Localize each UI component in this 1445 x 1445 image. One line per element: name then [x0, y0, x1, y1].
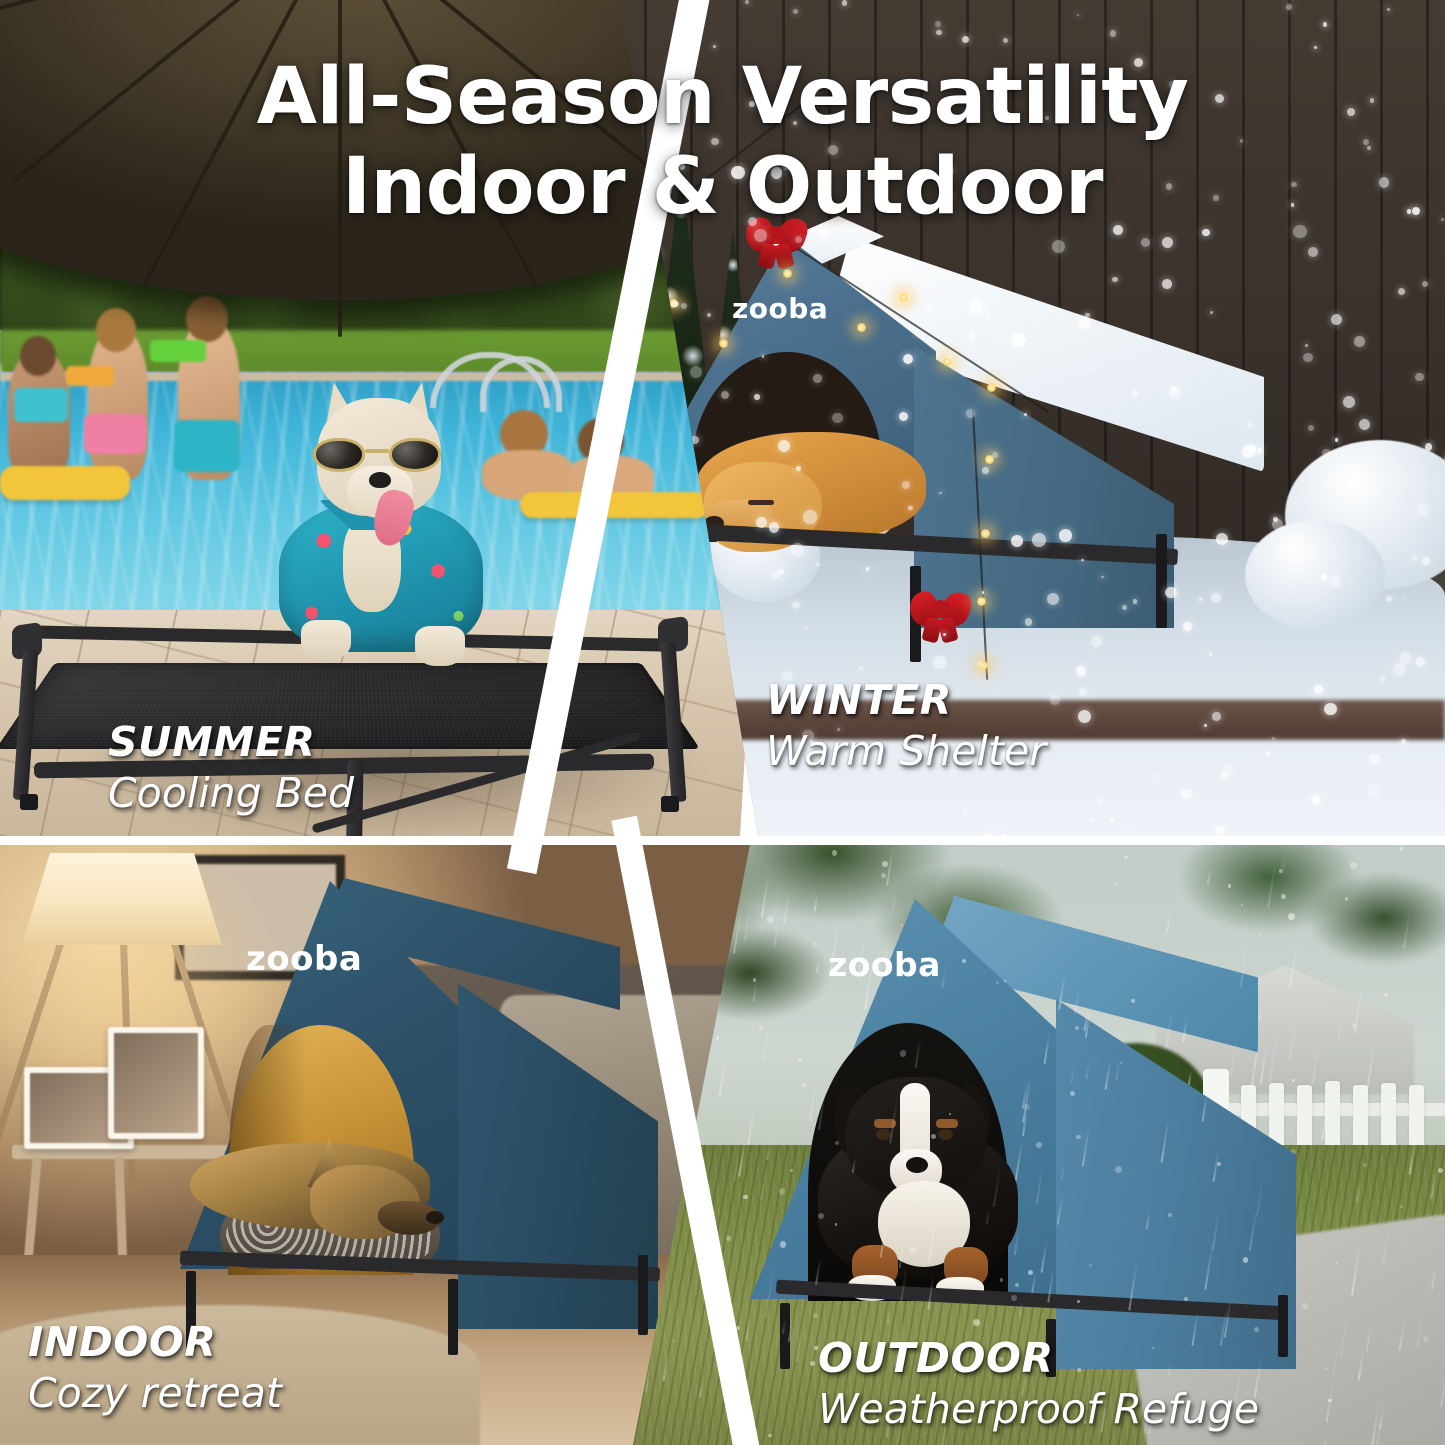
- caption-season-label: WINTER: [766, 676, 1046, 724]
- dog-bernese-mountain-dog: [818, 1077, 1018, 1307]
- water-gun: [150, 340, 206, 362]
- string-light: [942, 356, 953, 367]
- person-kid: [186, 296, 228, 342]
- sunglasses-lens: [389, 438, 441, 472]
- string-light: [978, 660, 989, 671]
- string-light: [856, 322, 867, 333]
- dog-eye: [938, 1129, 953, 1140]
- dog-pit-bull: [265, 398, 495, 688]
- caption-desc-label: Weatherproof Refuge: [818, 1385, 1259, 1433]
- brand-logo: zooba: [246, 939, 362, 979]
- bed-foot: [20, 794, 38, 810]
- dog-nose: [369, 472, 391, 488]
- caption-season-label: INDOOR: [28, 1318, 282, 1366]
- brand-logo: zooba: [828, 945, 941, 984]
- house-leg: [1156, 534, 1167, 628]
- caption-desc-label: Cozy retreat: [28, 1369, 282, 1417]
- person-kid: [20, 336, 56, 376]
- string-light: [718, 338, 729, 349]
- caption-indoor: INDOOR Cozy retreat: [28, 1318, 282, 1417]
- caption-desc-label: Cooling Bed: [108, 769, 354, 817]
- dog-house-outdoor: zooba: [750, 879, 1350, 1379]
- string-light: [898, 292, 909, 303]
- headline-line-1: All-Season Versatility: [0, 58, 1445, 136]
- caption-winter: WINTER Warm Shelter: [766, 676, 1046, 775]
- string-light: [984, 454, 995, 465]
- page-headline: All-Season Versatility Indoor & Outdoor: [0, 58, 1445, 226]
- sunglasses-bridge: [365, 449, 389, 453]
- bed-foot: [661, 796, 679, 812]
- house-leg: [1278, 1295, 1288, 1357]
- dog-nose: [426, 1211, 444, 1224]
- string-light: [980, 528, 991, 539]
- dog-house-indoor: zooba: [180, 855, 700, 1355]
- dog-paw: [301, 620, 351, 660]
- dog-nose: [906, 1157, 928, 1173]
- house-leg: [780, 1303, 790, 1369]
- person-kid: [84, 414, 146, 454]
- dog-german-shepherd: [190, 1123, 450, 1253]
- dog-paw: [415, 626, 465, 666]
- dog-eye: [748, 500, 774, 505]
- divider-horizontal: [0, 836, 1445, 845]
- person-kid: [174, 420, 240, 472]
- person-kid: [88, 330, 148, 480]
- string-light: [782, 268, 793, 279]
- red-bow-decoration: [910, 588, 970, 634]
- headline-line-2: Indoor & Outdoor: [0, 148, 1445, 226]
- person-kid: [96, 308, 136, 352]
- sunglasses-icon: [313, 438, 441, 472]
- dog-eye: [876, 1129, 891, 1140]
- product-feature-collage: zooba: [0, 0, 1445, 1445]
- string-light: [976, 596, 987, 607]
- caption-desc-label: Warm Shelter: [766, 727, 1046, 775]
- water-gun: [66, 366, 114, 386]
- dog-brow-marking: [874, 1119, 896, 1128]
- house-leg: [638, 1255, 648, 1335]
- caption-summer: SUMMER Cooling Bed: [108, 718, 354, 817]
- person-kid: [14, 388, 68, 422]
- pool-float: [0, 466, 130, 500]
- caption-season-label: OUTDOOR: [818, 1334, 1259, 1382]
- brand-logo: zooba: [732, 292, 828, 325]
- sunglasses-lens: [313, 438, 365, 472]
- caption-season-label: SUMMER: [108, 718, 354, 766]
- string-light: [986, 382, 997, 393]
- house-leg: [448, 1279, 458, 1355]
- dog-brow-marking: [936, 1119, 958, 1128]
- pool-float: [520, 492, 710, 518]
- caption-outdoor: OUTDOOR Weatherproof Refuge: [818, 1334, 1259, 1433]
